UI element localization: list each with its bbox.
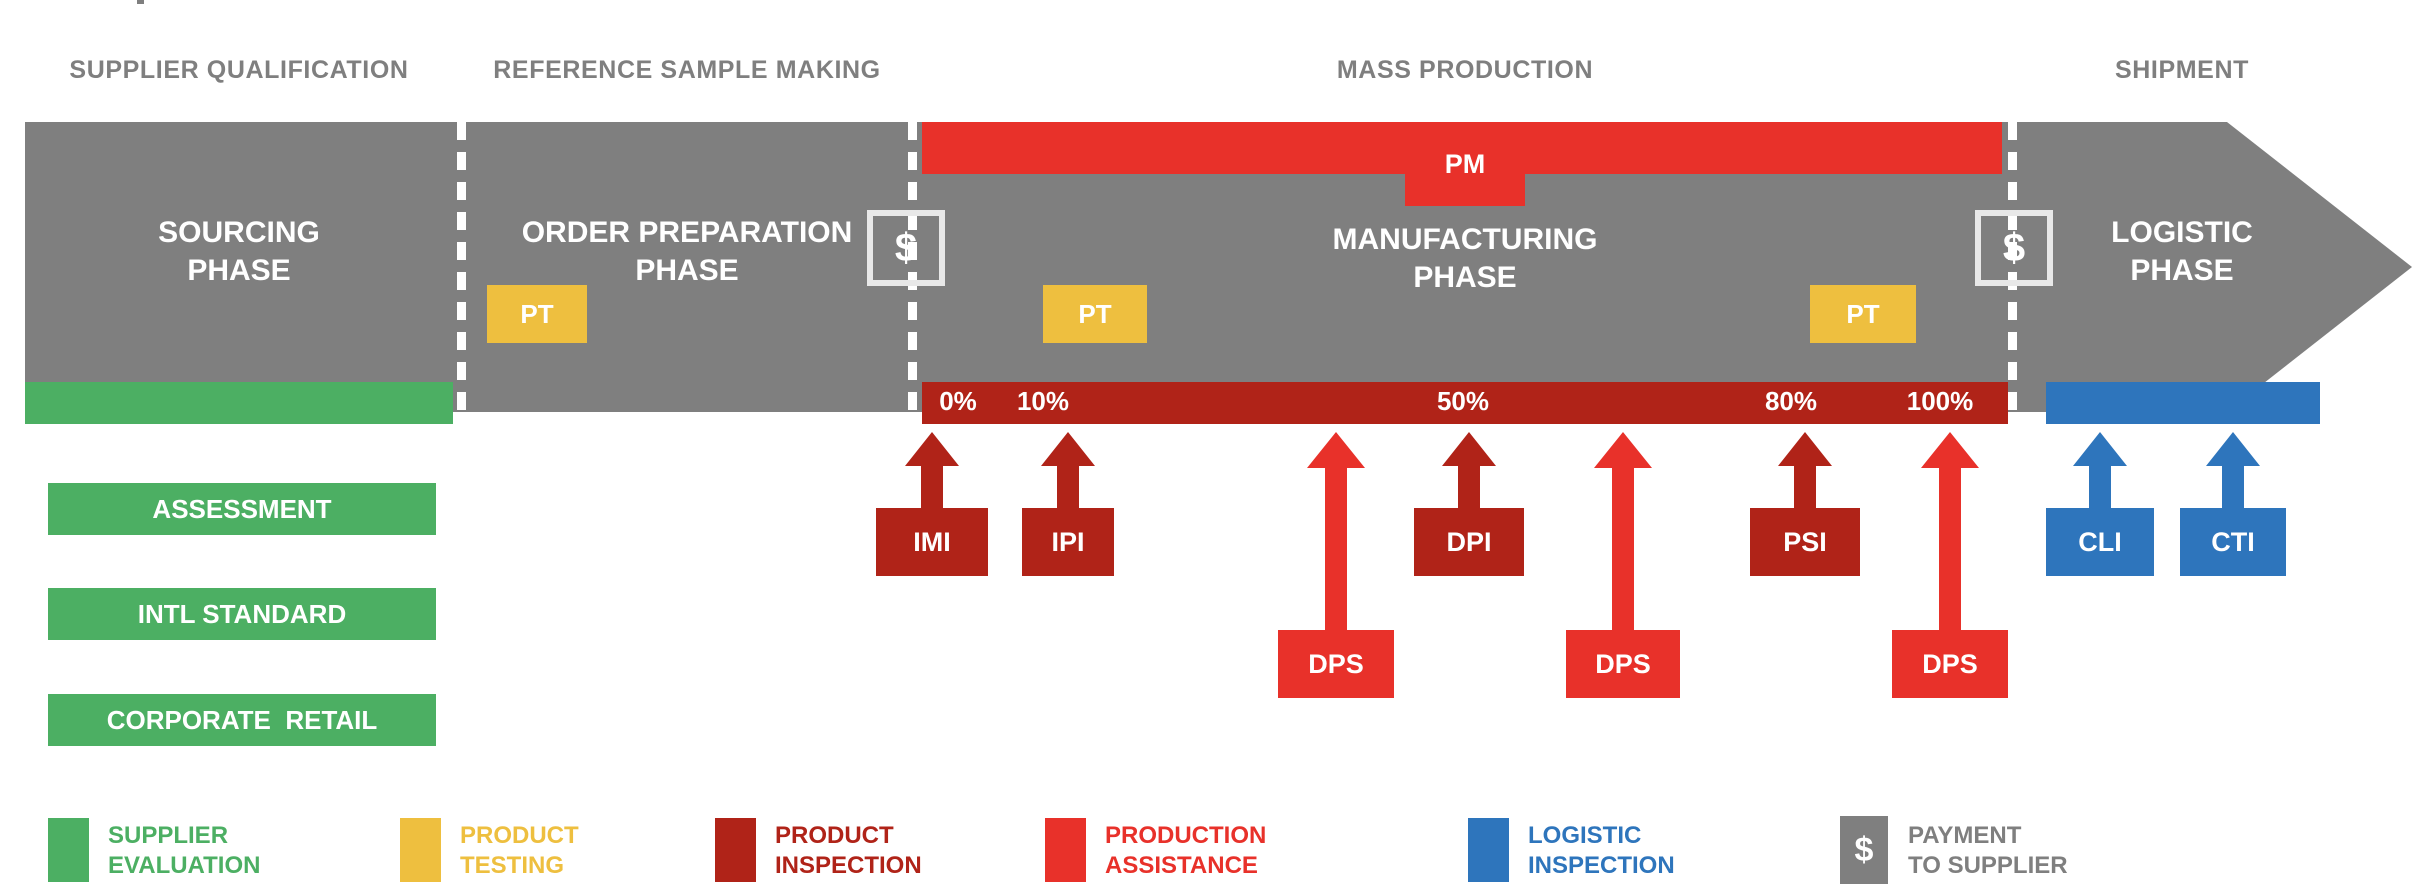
legend-label: PRODUCT INSPECTION [775, 821, 922, 881]
up-arrow-icon [1594, 432, 1652, 632]
legend-label-line1: PRODUCT [460, 821, 579, 851]
dollar-icon: $ [1840, 816, 1888, 884]
up-arrow-icon [2206, 432, 2260, 512]
progress-label-10: 10% [1000, 386, 1086, 417]
legend-label-line2: INSPECTION [1528, 851, 1675, 881]
legend-label-line1: PAYMENT [1908, 821, 2068, 851]
legend-swatch-icon [48, 818, 89, 882]
legend-swatch-icon [715, 818, 756, 882]
service-marker-label: CTI [2180, 508, 2286, 576]
service-marker-dpi[interactable]: DPI [1414, 432, 1524, 576]
up-arrow-icon [905, 432, 959, 512]
legend-label: LOGISTIC INSPECTION [1528, 821, 1675, 881]
phase-title-line1: LOGISTIC [2022, 218, 2342, 248]
service-marker-cti[interactable]: CTI [2180, 432, 2286, 576]
legend-swatch-icon [1045, 818, 1086, 882]
supplier-evaluation-bar [25, 382, 453, 424]
legend-label-line2: TO SUPPLIER [1908, 851, 2068, 881]
phase-divider-1 [457, 122, 466, 412]
service-marker-label: DPS [1566, 630, 1680, 698]
phase-header-supplier-qualification: SUPPLIER QUALIFICATION [25, 56, 453, 85]
product-testing-box-2[interactable]: PT [1043, 285, 1147, 343]
phase-title-manufacturing: MANUFACTURING PHASE [922, 225, 2008, 293]
progress-label-100: 100% [1888, 386, 1992, 417]
legend-label-line2: TESTING [460, 851, 579, 881]
phase-title-line2: PHASE [25, 256, 453, 286]
process-timeline-diagram: SUPPLIER QUALIFICATION REFERENCE SAMPLE … [0, 0, 2412, 894]
legend-label: PRODUCT TESTING [460, 821, 579, 881]
payment-marker-2[interactable]: $ [1975, 210, 2053, 286]
legend-label-line1: PRODUCTION [1105, 821, 1266, 851]
phase-title-order-preparation: ORDER PREPARATION PHASE [467, 218, 907, 286]
phase-header-shipment: SHIPMENT [2022, 56, 2342, 85]
service-marker-cli[interactable]: CLI [2046, 432, 2154, 576]
service-marker-imi[interactable]: IMI [876, 432, 988, 576]
up-arrow-icon [1921, 432, 1979, 632]
service-marker-label: PSI [1750, 508, 1860, 576]
clipped-fragment [137, 0, 144, 4]
progress-label-0: 0% [922, 386, 994, 417]
service-marker-label: DPI [1414, 508, 1524, 576]
service-marker-label: DPS [1278, 630, 1394, 698]
payment-marker-1[interactable]: $ [867, 210, 945, 286]
production-assistance-label-tab: PM [1405, 122, 1525, 206]
service-marker-ipi[interactable]: IPI [1022, 432, 1114, 576]
up-arrow-icon [1442, 432, 1496, 512]
service-marker-dps-2[interactable]: DPS [1566, 432, 1680, 698]
phase-title-sourcing: SOURCING PHASE [25, 218, 453, 286]
legend-item-payment-to-supplier: $ PAYMENT TO SUPPLIER [1840, 816, 2180, 888]
phase-title-line1: SOURCING [25, 218, 453, 248]
up-arrow-icon [1041, 432, 1095, 512]
up-arrow-icon [1778, 432, 1832, 512]
legend-label: PAYMENT TO SUPPLIER [1908, 821, 2068, 881]
up-arrow-icon [2073, 432, 2127, 512]
legend-swatch-icon [400, 818, 441, 882]
legend-item-product-testing: PRODUCT TESTING [400, 818, 720, 886]
progress-label-50: 50% [1420, 386, 1506, 417]
evaluation-box-corporate-retail[interactable]: CORPORATE RETAIL [48, 694, 436, 746]
service-marker-label: IMI [876, 508, 988, 576]
legend-item-product-inspection: PRODUCT INSPECTION [715, 818, 1045, 886]
legend-swatch-icon [1468, 818, 1509, 882]
legend-label-line2: INSPECTION [775, 851, 922, 881]
service-marker-label: CLI [2046, 508, 2154, 576]
phase-title-line2: PHASE [467, 256, 907, 286]
service-marker-label: DPS [1892, 630, 2008, 698]
legend-label: SUPPLIER EVALUATION [108, 821, 260, 881]
phase-title-line1: MANUFACTURING [922, 225, 2008, 255]
progress-label-80: 80% [1748, 386, 1834, 417]
legend-label-line1: LOGISTIC [1528, 821, 1675, 851]
legend-label-line2: ASSISTANCE [1105, 851, 1266, 881]
phase-title-line2: PHASE [2022, 256, 2342, 286]
phase-title-logistic: LOGISTIC PHASE [2022, 218, 2342, 286]
service-marker-dps-1[interactable]: DPS [1278, 432, 1394, 698]
product-testing-box-3[interactable]: PT [1810, 285, 1916, 343]
evaluation-box-intl-standard[interactable]: INTL STANDARD [48, 588, 436, 640]
service-marker-label: IPI [1022, 508, 1114, 576]
service-marker-dps-3[interactable]: DPS [1892, 432, 2008, 698]
logistic-inspection-bar [2046, 382, 2320, 424]
phase-title-line1: ORDER PREPARATION [467, 218, 907, 248]
legend-label: PRODUCTION ASSISTANCE [1105, 821, 1266, 881]
product-testing-box-1[interactable]: PT [487, 285, 587, 343]
legend-label-line2: EVALUATION [108, 851, 260, 881]
legend-item-production-assistance: PRODUCTION ASSISTANCE [1045, 818, 1405, 886]
legend-item-supplier-evaluation: SUPPLIER EVALUATION [48, 818, 368, 886]
phase-header-mass-production: MASS PRODUCTION [922, 56, 2008, 85]
legend-label-line1: SUPPLIER [108, 821, 260, 851]
phase-header-reference-sample-making: REFERENCE SAMPLE MAKING [467, 56, 907, 85]
legend-item-logistic-inspection: LOGISTIC INSPECTION [1468, 818, 1798, 886]
evaluation-box-assessment[interactable]: ASSESSMENT [48, 483, 436, 535]
legend-label-line1: PRODUCT [775, 821, 922, 851]
up-arrow-icon [1307, 432, 1365, 632]
service-marker-psi[interactable]: PSI [1750, 432, 1860, 576]
